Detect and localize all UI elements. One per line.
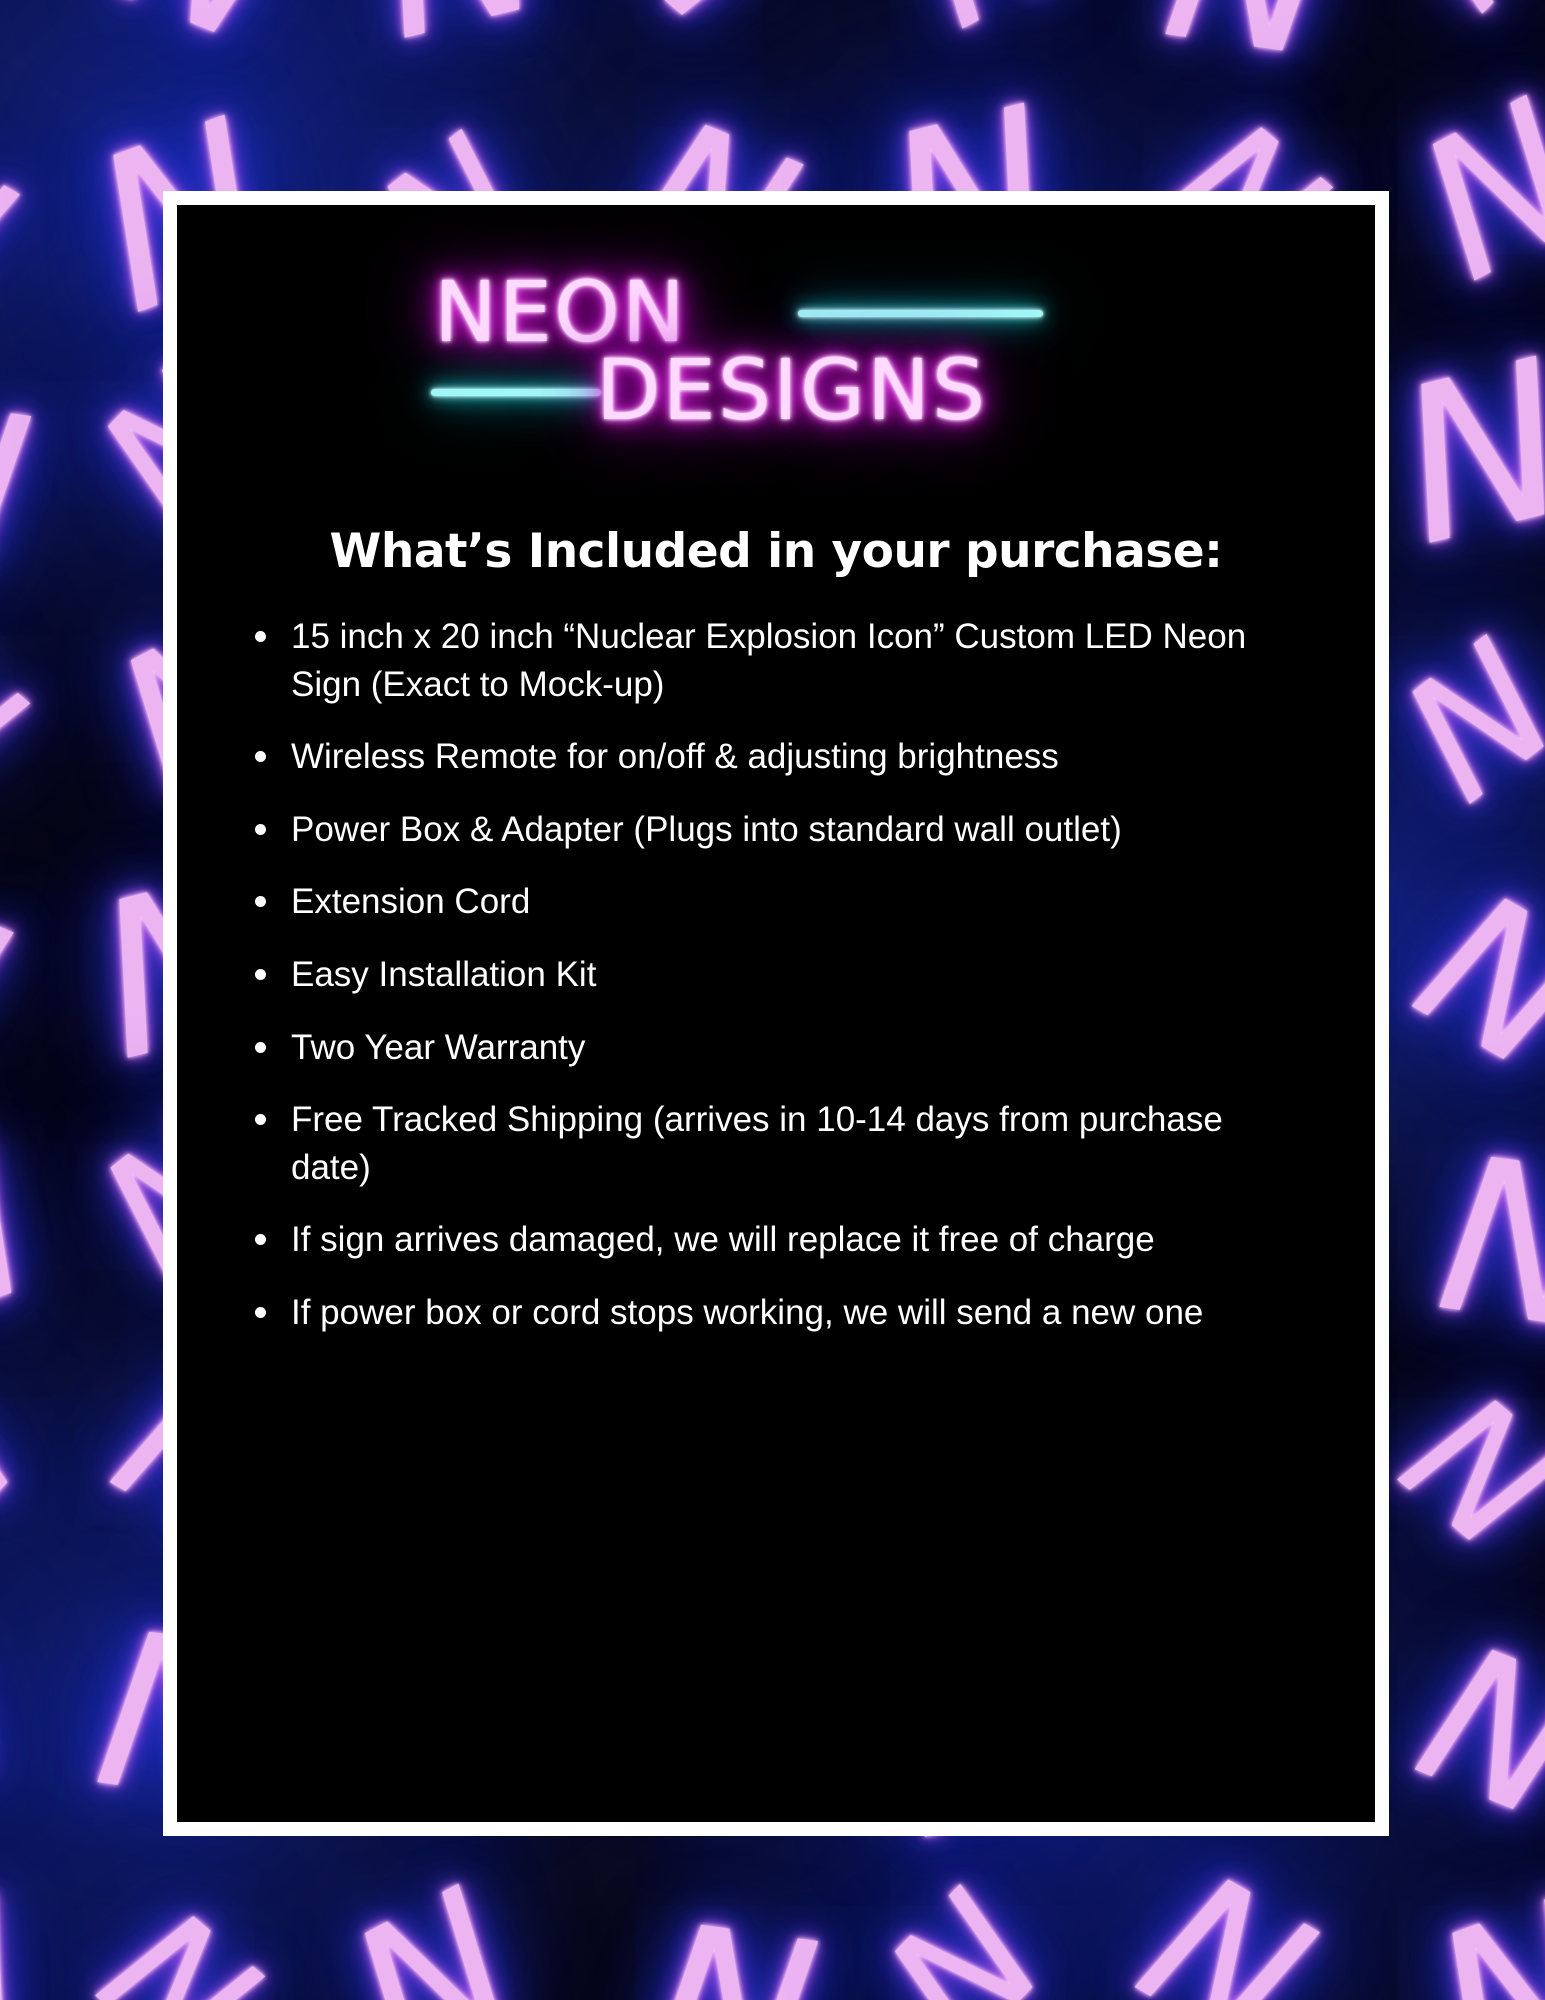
background-neon-n-icon: N [0, 0, 6, 31]
list-item-label: 15 inch x 20 inch “Nuclear Explosion Ico… [291, 617, 1246, 704]
background-neon-n-icon: N [74, 1883, 281, 2000]
list-item-label: If power box or cord stops working, we w… [291, 1293, 1203, 1332]
background-neon-n-icon: N [1429, 1128, 1545, 1362]
list-item-label: Extension Cord [291, 882, 530, 921]
background-neon-n-icon: N [1399, 1618, 1545, 1850]
background-neon-n-icon: N [356, 0, 563, 72]
background-neon-n-icon: N [1395, 74, 1545, 311]
background-neon-n-icon: N [99, 0, 304, 73]
list-item: Easy Installation Kit [237, 951, 1309, 999]
background-neon-n-icon: N [1114, 1845, 1334, 2000]
bullet-dot-icon [255, 824, 266, 835]
background-neon-n-icon: N [0, 1362, 47, 1572]
bullet-dot-icon [255, 1114, 266, 1125]
background-neon-n-icon: N [1411, 1868, 1545, 2000]
background-neon-n-icon: N [882, 0, 1099, 58]
background-neon-n-icon: N [1381, 330, 1545, 576]
logo-word-designs: DESIGNS [596, 341, 987, 439]
list-item-label: Wireless Remote for on/off & adjusting b… [291, 737, 1059, 776]
poster-page: NNNNNNNNNNNNNNNNNNNNNNNNNNNNNNNNNNNNNNNN… [0, 0, 1545, 2000]
list-item: Power Box & Adapter (Plugs into standard… [237, 806, 1309, 854]
bullet-dot-icon [255, 631, 266, 642]
black-card-body: NEON DESIGNS What’s Included in your pur… [177, 205, 1375, 1822]
background-neon-n-icon: N [1392, 864, 1545, 1102]
list-item: Wireless Remote for on/off & adjusting b… [237, 733, 1309, 781]
cyan-dash-bottom-icon [431, 389, 601, 396]
background-neon-n-icon: N [0, 1610, 31, 1847]
background-neon-n-icon: N [1377, 1367, 1545, 1579]
page-title: What’s Included in your purchase: [177, 524, 1375, 579]
list-item-label: If sign arrives damaged, we will replace… [291, 1220, 1155, 1259]
list-item: Free Tracked Shipping (arrives in 10-14 … [237, 1096, 1309, 1191]
list-item: 15 inch x 20 inch “Nuclear Explosion Ico… [237, 613, 1309, 708]
cyan-dash-top-icon [798, 310, 1043, 317]
background-neon-n-icon: N [861, 1867, 1072, 2000]
background-neon-n-icon: N [1377, 0, 1545, 36]
white-card-frame: NEON DESIGNS What’s Included in your pur… [163, 191, 1389, 1836]
list-item-label: Two Year Warranty [291, 1028, 585, 1067]
background-neon-n-icon: N [639, 1896, 827, 2000]
list-item: Two Year Warranty [237, 1024, 1309, 1072]
bullet-dot-icon [255, 896, 266, 907]
background-neon-n-icon: N [1154, 0, 1342, 89]
background-neon-n-icon: N [0, 107, 35, 345]
list-item-label: Easy Installation Kit [291, 955, 596, 994]
background-neon-n-icon: N [0, 861, 26, 1093]
bullet-dot-icon [255, 1234, 266, 1245]
list-item: If sign arrives damaged, we will replace… [237, 1216, 1309, 1264]
bullet-dot-icon [255, 751, 266, 762]
background-neon-n-icon: N [327, 1862, 544, 2000]
list-item-label: Power Box & Adapter (Plugs into standard… [291, 810, 1122, 849]
background-neon-n-icon: N [1378, 616, 1545, 828]
background-neon-n-icon: N [0, 371, 40, 605]
list-item: If power box or cord stops working, we w… [237, 1289, 1309, 1337]
bullet-dot-icon [255, 1307, 266, 1318]
bullet-dot-icon [255, 1042, 266, 1053]
neon-designs-logo: NEON DESIGNS [426, 263, 1126, 478]
included-items-list: 15 inch x 20 inch “Nuclear Explosion Ico… [177, 613, 1375, 1337]
bullet-dot-icon [255, 969, 266, 980]
list-item-label: Free Tracked Shipping (arrives in 10-14 … [291, 1100, 1223, 1187]
background-neon-n-icon: N [0, 1866, 48, 2000]
background-neon-n-icon: N [0, 1111, 57, 1367]
background-neon-n-icon: N [589, 0, 796, 54]
list-item: Extension Cord [237, 878, 1309, 926]
background-neon-n-icon: N [0, 610, 46, 822]
